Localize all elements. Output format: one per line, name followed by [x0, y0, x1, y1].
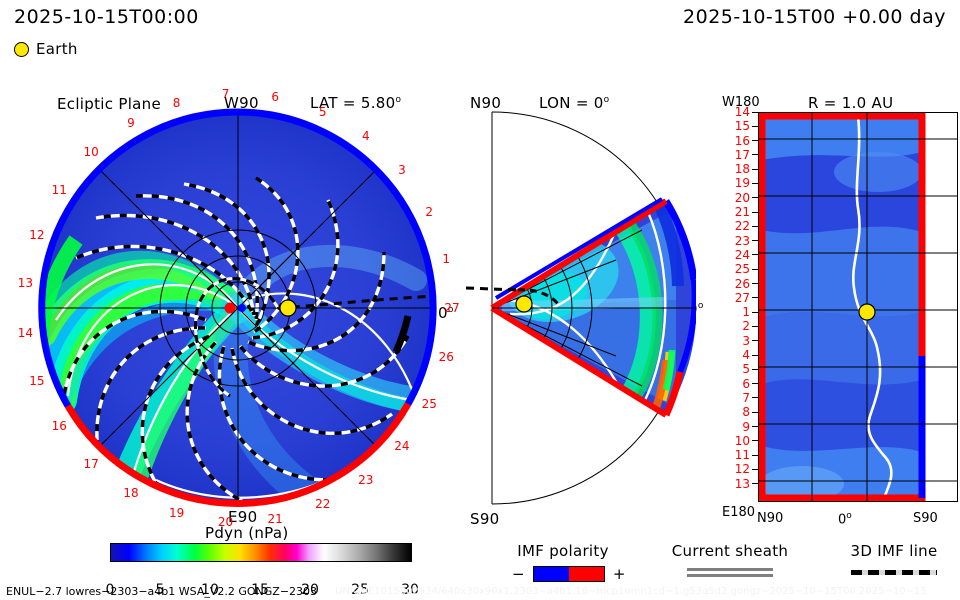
timeline-y-tick-mark [752, 440, 758, 441]
ecliptic-hour-label: 10 [84, 145, 99, 159]
timeline-y-tick-mark [752, 283, 758, 284]
timeline-x-label-s90: S90 [913, 511, 938, 526]
timeline-y-tick-mark [752, 340, 758, 341]
timeline-y-tick-label: 20 [735, 191, 750, 205]
timeline-y-tick-mark [752, 326, 758, 327]
earth-marker-meridional [516, 296, 532, 312]
timeline-y-tick-label: 11 [735, 448, 750, 462]
timeline-y-tick-mark [752, 369, 758, 370]
timeline-y-tick-label: 2 [742, 319, 750, 333]
timeline-y-tick-mark [752, 269, 758, 270]
ecliptic-hour-labels: 1234567891011121314151617181920212223242… [16, 100, 456, 520]
earth-legend: Earth [14, 40, 78, 58]
timeline-y-tick-mark [752, 154, 758, 155]
current-sheath-swatch-bottom [687, 574, 773, 577]
footer-model-info: ENUL−2.7 lowres−2303−a4b1 WSA_V2.2 GONGZ… [6, 585, 317, 598]
timeline-y-tick-label: 25 [735, 262, 750, 276]
timeline-x-label-zero: 0o [838, 511, 852, 527]
imf-polarity-title: IMF polarity [498, 542, 628, 560]
timeline-y-tick-label: 10 [735, 434, 750, 448]
timeline-y-tick-label: 8 [742, 405, 750, 419]
timeline-degree-sup: o [846, 511, 852, 521]
meridional-plane-plot[interactable] [466, 100, 696, 520]
timeline-y-tick-label: 13 [735, 477, 750, 491]
timeline-y-tick-label: 12 [735, 462, 750, 476]
colorbar[interactable]: 051015202530 [110, 543, 412, 582]
timeline-y-tick-mark [752, 140, 758, 141]
meridional-degree-sup: o [698, 301, 704, 311]
earth-marker-timeline [859, 304, 875, 320]
timeline-y-tick-mark [752, 312, 758, 313]
footer-run-id: UNIQUE1015202934/640x30x90x1.2303−a4b1.1… [335, 586, 927, 597]
imf-polarity-plus: + [613, 565, 626, 583]
timeline-y-tick-label: 17 [735, 148, 750, 162]
ecliptic-hour-label: 22 [315, 497, 330, 511]
timeline-title: R = 1.0 AU [808, 94, 893, 112]
timeline-y-tick-label: 27 [735, 291, 750, 305]
timeline-y-tick-mark [752, 297, 758, 298]
ecliptic-hour-label: 8 [173, 96, 181, 110]
timeline-y-tick-label: 15 [735, 119, 750, 133]
timeline-y-tick-label: 26 [735, 277, 750, 291]
timeline-y-tick-mark [752, 355, 758, 356]
timeline-y-tick-mark [752, 397, 758, 398]
timeline-y-tick-label: 1 [742, 305, 750, 319]
ecliptic-hour-label: 17 [84, 457, 99, 471]
imf-line-swatch [851, 570, 937, 575]
ecliptic-hour-label: 3 [398, 163, 406, 177]
timeline-y-tick-mark [752, 455, 758, 456]
timeline-y-tick-label: 7 [742, 391, 750, 405]
ecliptic-hour-label: 25 [422, 397, 437, 411]
timeline-y-tick-mark [752, 254, 758, 255]
colorbar-title: Pdyn (nPa) [205, 524, 289, 542]
timeline-y-tick-label: 9 [742, 420, 750, 434]
timeline-x-label-n90: N90 [757, 511, 783, 526]
ecliptic-hour-label: 24 [394, 439, 409, 453]
imf-polarity-positive-swatch [569, 567, 604, 581]
ecliptic-hour-label: 23 [358, 473, 373, 487]
timeline-y-tick-mark [752, 126, 758, 127]
timeline-y-tick-label: 21 [735, 205, 750, 219]
current-sheath-title: Current sheath [668, 542, 792, 560]
timeline-y-tick-label: 5 [742, 362, 750, 376]
timeline-y-tick-label: 16 [735, 134, 750, 148]
ecliptic-hour-label: 26 [439, 350, 454, 364]
ecliptic-hour-label: 4 [362, 129, 370, 143]
imf-line-title: 3D IMF line [838, 542, 950, 560]
legend-current-sheath: Current sheath [668, 542, 792, 577]
timeline-y-tick-mark [752, 212, 758, 213]
timeline-y-tick-label: 18 [735, 162, 750, 176]
timeline-y-tick-mark [752, 226, 758, 227]
earth-legend-label: Earth [36, 40, 78, 58]
timeline-y-tick-label: 22 [735, 219, 750, 233]
ecliptic-hour-label: 7 [222, 87, 230, 101]
ecliptic-hour-label: 11 [52, 183, 67, 197]
timeline-y-tick-mark [752, 240, 758, 241]
timeline-plot[interactable] [758, 112, 958, 502]
timeline-y-tick-mark [752, 112, 758, 113]
ecliptic-hour-label: 16 [52, 419, 67, 433]
timeline-y-tick-label: 3 [742, 334, 750, 348]
timeline-y-tick-mark [752, 197, 758, 198]
ecliptic-hour-label: 12 [29, 228, 44, 242]
header-datetime-right: 2025-10-15T00 +0.00 day [683, 6, 946, 28]
imf-polarity-minus: − [512, 565, 525, 583]
earth-marker-icon [14, 42, 29, 57]
imf-polarity-swatch [533, 566, 605, 582]
timeline-y-tick-label: 6 [742, 377, 750, 391]
ecliptic-hour-label: 14 [18, 326, 33, 340]
timeline-y-tick-label: 19 [735, 176, 750, 190]
timeline-y-tick-mark [752, 483, 758, 484]
timeline-y-tick-mark [752, 183, 758, 184]
ecliptic-hour-label: 13 [18, 276, 33, 290]
timeline-y-tick-label: 4 [742, 348, 750, 362]
ecliptic-hour-label: 27 [444, 301, 459, 315]
current-sheath-swatch-top [687, 568, 773, 571]
ecliptic-hour-label: 1 [442, 252, 450, 266]
ecliptic-hour-label: 18 [123, 486, 138, 500]
timeline-y-tick-label: 23 [735, 234, 750, 248]
legend-imf-polarity: IMF polarity − + [498, 542, 628, 583]
ecliptic-hour-label: 6 [271, 90, 279, 104]
legend-imf-line: 3D IMF line [838, 542, 950, 575]
timeline-corner-bottom-label: E180 [722, 505, 755, 520]
ecliptic-hour-label: 9 [127, 116, 135, 130]
ecliptic-hour-label: 5 [319, 105, 327, 119]
timeline-y-tick-mark [752, 426, 758, 427]
imf-polarity-negative-swatch [534, 567, 569, 581]
timeline-y-tick-mark [752, 412, 758, 413]
timeline-y-tick-label: 14 [735, 105, 750, 119]
ecliptic-hour-label: 19 [169, 506, 184, 520]
ecliptic-hour-label: 2 [425, 205, 433, 219]
timeline-y-tick-mark [752, 383, 758, 384]
timeline-y-tick-label: 24 [735, 248, 750, 262]
ecliptic-hour-label: 15 [29, 374, 44, 388]
header-datetime-left: 2025-10-15T00:00 [14, 6, 199, 28]
timeline-y-axis-labels: 1415161718192021222324252627123456789101… [718, 104, 760, 504]
timeline-y-tick-mark [752, 469, 758, 470]
colorbar-gradient [110, 543, 412, 562]
timeline-y-tick-mark [752, 169, 758, 170]
